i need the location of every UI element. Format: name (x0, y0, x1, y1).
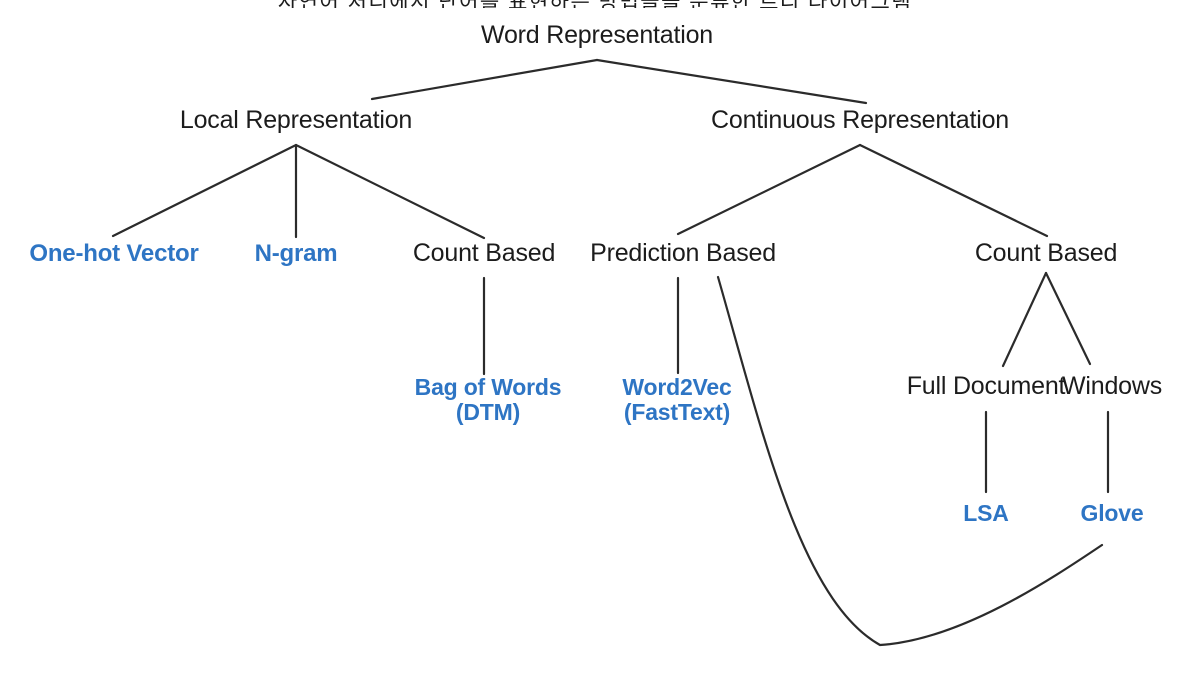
edge-local-countbased (296, 145, 484, 238)
edge-root-local (372, 60, 597, 99)
node-one-hot-vector[interactable]: One-hot Vector (29, 241, 198, 267)
node-glove[interactable]: Glove (1081, 501, 1144, 526)
node-continuous-representation[interactable]: Continuous Representation (711, 107, 1009, 134)
node-label: Word Representation (481, 22, 713, 49)
node-n-gram[interactable]: N-gram (255, 241, 338, 267)
edge-countbasedright-windows (1046, 273, 1090, 364)
node-label-line2: (FastText) (622, 400, 731, 425)
node-label-line1: Word2Vec (622, 375, 731, 400)
node-full-document[interactable]: Full Document (907, 373, 1066, 400)
node-word-representation[interactable]: Word Representation (481, 22, 713, 49)
diagram-canvas: 자연어 처리에서 단어를 표현하는 방법들을 분류한 트리 다이어그램 (0, 0, 1190, 678)
node-label: N-gram (255, 241, 338, 267)
edge-root-continuous (597, 60, 866, 103)
node-label: LSA (963, 501, 1008, 526)
node-count-based-right[interactable]: Count Based (975, 240, 1117, 267)
node-label: Count Based (413, 240, 555, 267)
node-label: Local Representation (180, 107, 412, 134)
node-label-line2: (DTM) (415, 400, 562, 425)
node-bag-of-words[interactable]: Bag of Words (DTM) (415, 375, 562, 425)
edge-prediction-glove-curve (718, 277, 1102, 645)
node-prediction-based[interactable]: Prediction Based (590, 240, 776, 267)
node-local-representation[interactable]: Local Representation (180, 107, 412, 134)
node-label: Count Based (975, 240, 1117, 267)
node-windows[interactable]: Windows (1062, 373, 1162, 400)
node-label-line1: Bag of Words (415, 375, 562, 400)
edge-local-onehot (113, 145, 296, 236)
node-count-based-left[interactable]: Count Based (413, 240, 555, 267)
node-label: Prediction Based (590, 240, 776, 267)
edge-layer (0, 0, 1190, 678)
node-label: Continuous Representation (711, 107, 1009, 134)
node-label: Windows (1062, 373, 1162, 400)
edge-continuous-prediction (678, 145, 860, 234)
node-label: One-hot Vector (29, 241, 198, 267)
top-clipped-caption: 자연어 처리에서 단어를 표현하는 방법들을 분류한 트리 다이어그램 (0, 0, 1190, 8)
edge-continuous-countbased (860, 145, 1047, 236)
node-word2vec[interactable]: Word2Vec (FastText) (622, 375, 731, 425)
node-lsa[interactable]: LSA (963, 501, 1008, 526)
edge-countbasedright-fulldocument (1003, 273, 1046, 366)
node-label: Glove (1081, 501, 1144, 526)
node-label: Full Document (907, 373, 1066, 400)
